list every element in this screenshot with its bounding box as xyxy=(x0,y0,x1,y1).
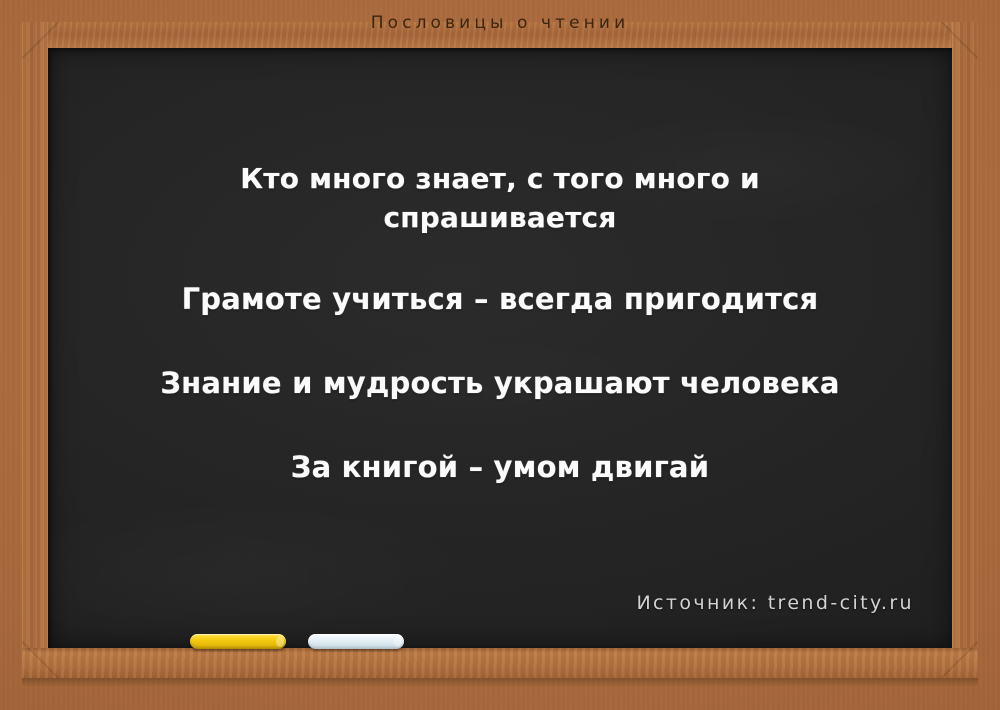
white-chalk-icon xyxy=(308,634,404,649)
source-credit: Источник: trend-city.ru xyxy=(636,592,914,614)
proverb-item: Знание и мудрость украшают человека xyxy=(68,363,932,403)
ledge-shadow xyxy=(22,678,978,687)
page-title: Пословицы о чтении xyxy=(0,13,1000,33)
frame-stile-left xyxy=(22,22,48,678)
proverb-item: Кто много знает, с того много и спрашива… xyxy=(68,160,932,237)
yellow-chalk-icon xyxy=(190,634,286,649)
frame-stile-right xyxy=(952,22,978,678)
proverb-list: Кто много знает, с того много и спрашива… xyxy=(48,160,952,487)
proverb-item: За книгой – умом двигай xyxy=(68,447,932,487)
chalkboard-surface: Кто много знает, с того много и спрашива… xyxy=(48,48,952,648)
proverb-item: Грамоте учиться – всегда пригодится xyxy=(68,279,932,319)
frame-ledge-bottom xyxy=(22,648,978,678)
